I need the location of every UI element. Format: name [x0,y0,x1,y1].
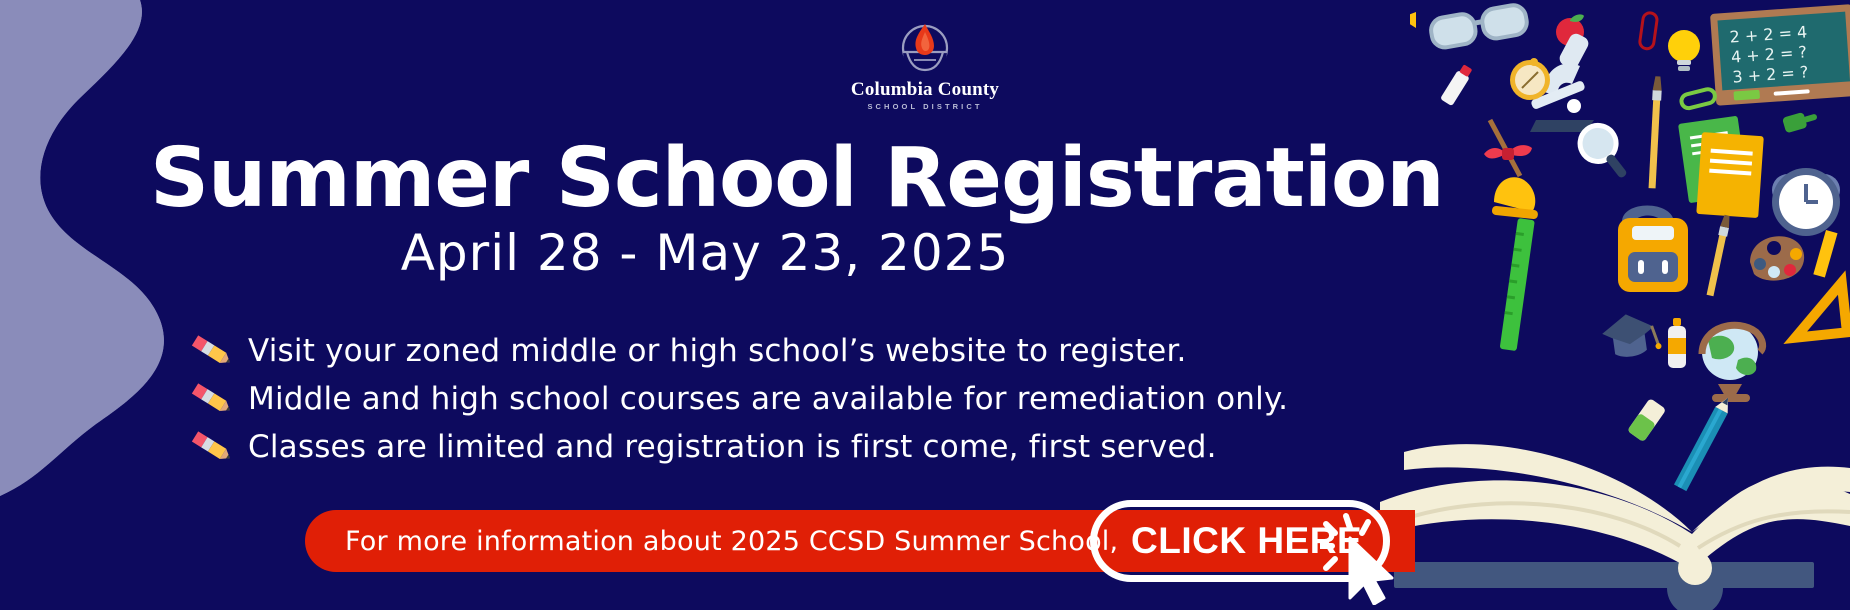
page-title: Summer School Registration [150,140,1260,219]
chalkboard-icon: 2 + 2 = 4 4 + 2 = ? 3 + 2 = ? [1710,4,1850,106]
summer-school-registration-banner: 2 + 2 = 4 4 + 2 = ? 3 + 2 = ? [0,0,1850,610]
info-bullet-list: Visit your zoned middle or high school’s… [190,330,1288,468]
open-book-icon [1380,430,1850,610]
headline-block: Summer School Registration April 28 - Ma… [150,140,1260,282]
globe-icon [1702,324,1763,402]
backpack-icon [1618,206,1688,293]
graduation-cap-icon [1600,310,1662,360]
decorative-blob-shape [0,0,240,610]
eyeglasses-icon [1429,3,1529,49]
paintbrush-icon [1648,76,1663,188]
paintbrush-icon [1706,214,1732,296]
list-item: Middle and high school courses are avail… [190,378,1288,420]
chalkboard-line-1: 2 + 2 = 4 [1729,22,1808,46]
pushpin-icon [1782,109,1819,134]
paint-palette-icon [1750,236,1804,280]
cta-message: For more information about 2025 CCSD Sum… [345,526,1118,557]
list-item-label: Visit your zoned middle or high school’s… [248,334,1187,368]
logo-district-subtitle: SCHOOL DISTRICT [825,103,1025,111]
notebook-icon [1678,116,1749,204]
paper-clip-icon [1639,12,1658,50]
green-ruler-icon [1500,218,1535,351]
pencil-icon [190,429,234,465]
blue-pencil-icon [1674,394,1734,491]
notebook-icon [1696,132,1764,218]
school-supplies-artwork: 2 + 2 = 4 4 + 2 = ? 3 + 2 = ? [1410,0,1850,610]
logo-district-name: Columbia County [825,80,1025,99]
list-item-label: Middle and high school courses are avail… [248,382,1288,416]
eraser-icon [1627,398,1666,442]
mouse-pointer-click-icon [1320,510,1410,605]
list-item-label: Classes are limited and registration is … [248,430,1217,464]
paint-tube-icon [1440,63,1474,106]
school-bell-icon [1484,120,1538,219]
triangle-ruler-icon [1790,283,1847,338]
pencil-icon [190,333,234,369]
torch-flame-emblem-icon [894,22,956,78]
chalkboard-line-2: 4 + 2 = ? [1730,42,1807,66]
microscope-icon [1530,31,1594,132]
alarm-clock-icon [1772,168,1840,236]
date-range-subtitle: April 28 - May 23, 2025 [150,225,1260,283]
apple-icon [1556,14,1584,46]
list-item: Visit your zoned middle or high school’s… [190,330,1288,372]
water-bottle-icon [1668,318,1686,368]
lightbulb-icon [1668,30,1700,71]
arrow-icon [1410,12,1416,28]
district-logo[interactable]: Columbia County SCHOOL DISTRICT [825,22,1025,111]
chalkboard-line-3: 3 + 2 = ? [1732,62,1809,86]
pencil-icon [190,381,234,417]
compass-icon [1510,58,1550,100]
list-item: Classes are limited and registration is … [190,426,1288,468]
magnifying-glass-icon [1573,118,1638,187]
highlighter-icon [1813,230,1837,278]
paper-clip-icon [1680,88,1716,110]
